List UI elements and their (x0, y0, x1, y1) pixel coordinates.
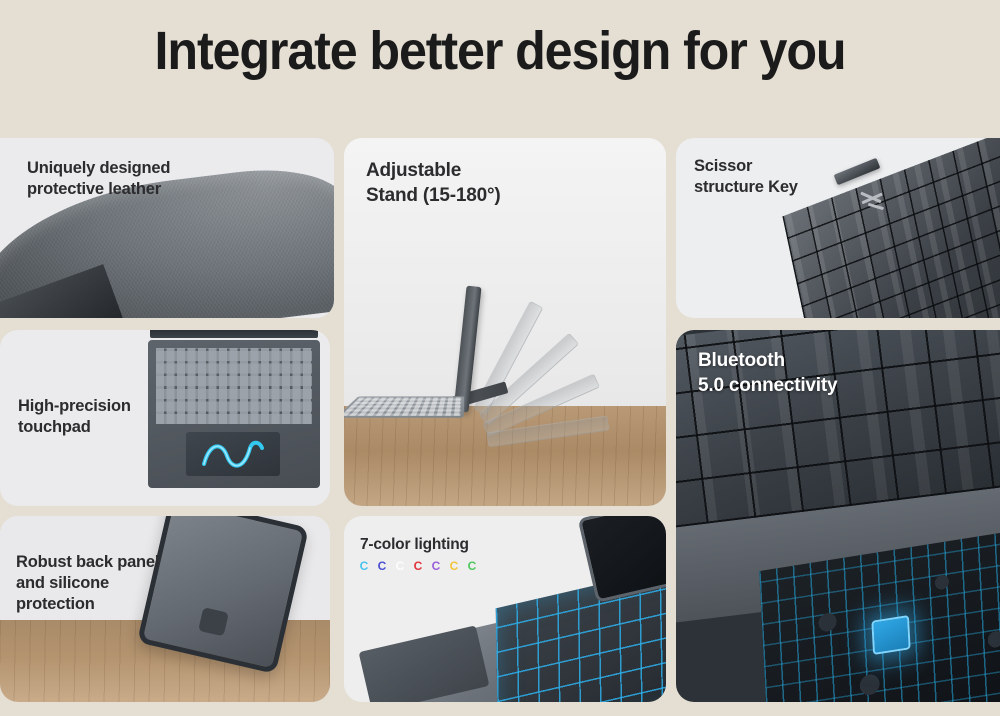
tablet-lid-image (150, 330, 318, 338)
feature-caption-stand: Adjustable Stand (15-180°) (366, 158, 500, 208)
color-swatch-white[interactable]: C (394, 560, 406, 572)
bluetooth-chip-highlight (871, 615, 910, 655)
feature-caption-scissor-key: Scissor structure Key (694, 156, 798, 198)
feature-caption-leather: Uniquely designed protective leather (27, 158, 170, 200)
color-swatch-cyan[interactable]: C (358, 560, 370, 572)
keyboard-keys (156, 348, 312, 424)
camera-module (198, 607, 229, 636)
feature-card-bluetooth[interactable]: Bluetooth 5.0 connectivity (676, 330, 1000, 702)
color-swatch-red[interactable]: C (412, 560, 424, 572)
gesture-swirl-icon (200, 438, 266, 470)
color-swatch-list[interactable]: CCCCCCC (358, 560, 508, 572)
scissor-mechanism-icon (860, 190, 890, 212)
page-title: Integrate better design for you (35, 16, 965, 86)
feature-card-leather[interactable]: Uniquely designed protective leather (0, 138, 334, 318)
feature-card-touchpad[interactable]: High-precision touchpad (0, 330, 330, 506)
feature-caption-back-panel: Robust back panel and silicone protectio… (16, 552, 159, 615)
feature-card-back-panel[interactable]: Robust back panel and silicone protectio… (0, 516, 330, 702)
infographic-stage: Integrate better design for you Uniquely… (0, 0, 1000, 716)
trackpad (186, 432, 280, 476)
feature-caption-lighting: 7-color lighting (360, 534, 469, 555)
feature-caption-bluetooth: Bluetooth 5.0 connectivity (698, 348, 837, 398)
feature-caption-touchpad: High-precision touchpad (18, 396, 131, 438)
color-swatch-purple[interactable]: C (430, 560, 442, 572)
feature-card-stand[interactable]: Adjustable Stand (15-180°) (344, 138, 666, 506)
color-swatch-yellow[interactable]: C (448, 560, 460, 572)
keyboard-angled-image (782, 138, 1000, 318)
keyboard-topdown-image (148, 340, 320, 488)
feature-card-scissor-key[interactable]: Scissor structure Key (676, 138, 1000, 318)
color-swatch-green[interactable]: C (466, 560, 478, 572)
keyboard-flat-image (344, 396, 464, 417)
color-swatch-blue[interactable]: C (376, 560, 388, 572)
feature-card-lighting[interactable]: 7-color lighting CCCCCCC (344, 516, 666, 702)
